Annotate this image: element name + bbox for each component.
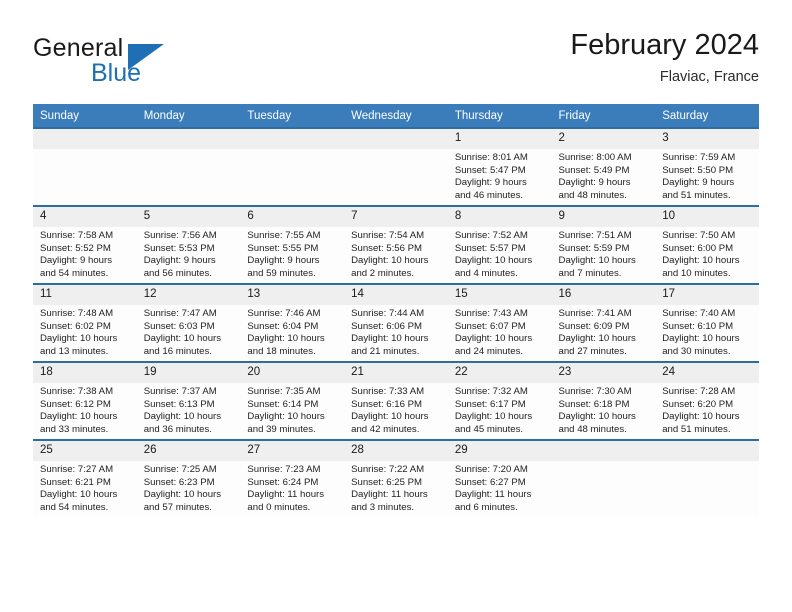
page-header: General Blue February 2024 Flaviac, Fran… (33, 28, 759, 98)
day-number: 20 (240, 363, 344, 383)
day-details: Sunrise: 7:54 AMSunset: 5:56 PMDaylight:… (344, 227, 448, 280)
day-details: Sunrise: 7:37 AMSunset: 6:13 PMDaylight:… (137, 383, 241, 436)
day-details: Sunrise: 7:27 AMSunset: 6:21 PMDaylight:… (33, 461, 137, 514)
calendar-day-cell[interactable]: 11Sunrise: 7:48 AMSunset: 6:02 PMDayligh… (33, 284, 137, 362)
sunset-text: Sunset: 5:53 PM (144, 243, 235, 256)
page-title: February 2024 (570, 28, 759, 62)
weekday-header-saturday: Saturday (655, 104, 759, 128)
calendar-day-cell[interactable]: 7Sunrise: 7:54 AMSunset: 5:56 PMDaylight… (344, 206, 448, 284)
daylight-text-line1: Daylight: 10 hours (662, 411, 753, 424)
sunrise-text: Sunrise: 7:28 AM (662, 386, 753, 399)
day-number: 4 (33, 207, 137, 227)
daylight-text-line2: and 46 minutes. (455, 190, 546, 203)
calendar-day-cell[interactable]: 18Sunrise: 7:38 AMSunset: 6:12 PMDayligh… (33, 362, 137, 440)
day-details: Sunrise: 7:44 AMSunset: 6:06 PMDaylight:… (344, 305, 448, 358)
calendar-day-cell[interactable]: 25Sunrise: 7:27 AMSunset: 6:21 PMDayligh… (33, 440, 137, 517)
daylight-text-line2: and 3 minutes. (351, 502, 442, 515)
daylight-text-line1: Daylight: 9 hours (662, 177, 753, 190)
calendar-week-row: 18Sunrise: 7:38 AMSunset: 6:12 PMDayligh… (33, 362, 759, 440)
day-details: Sunrise: 7:23 AMSunset: 6:24 PMDaylight:… (240, 461, 344, 514)
daylight-text-line1: Daylight: 10 hours (455, 255, 546, 268)
daylight-text-line2: and 48 minutes. (559, 190, 650, 203)
sunrise-text: Sunrise: 7:40 AM (662, 308, 753, 321)
day-number: 12 (137, 285, 241, 305)
day-details: Sunrise: 7:46 AMSunset: 6:04 PMDaylight:… (240, 305, 344, 358)
sunset-text: Sunset: 5:50 PM (662, 165, 753, 178)
sunrise-text: Sunrise: 7:52 AM (455, 230, 546, 243)
day-number (552, 441, 656, 461)
daylight-text-line2: and 45 minutes. (455, 424, 546, 437)
day-number: 11 (33, 285, 137, 305)
day-details: Sunrise: 7:58 AMSunset: 5:52 PMDaylight:… (33, 227, 137, 280)
day-number (655, 441, 759, 461)
daylight-text-line1: Daylight: 9 hours (455, 177, 546, 190)
daylight-text-line1: Daylight: 10 hours (559, 411, 650, 424)
weekday-header-friday: Friday (552, 104, 656, 128)
sunrise-text: Sunrise: 7:25 AM (144, 464, 235, 477)
day-details: Sunrise: 7:43 AMSunset: 6:07 PMDaylight:… (448, 305, 552, 358)
calendar-week-row: 1Sunrise: 8:01 AMSunset: 5:47 PMDaylight… (33, 128, 759, 206)
daylight-text-line2: and 16 minutes. (144, 346, 235, 359)
day-number: 2 (552, 129, 656, 149)
day-number: 26 (137, 441, 241, 461)
sunset-text: Sunset: 6:09 PM (559, 321, 650, 334)
title-block: February 2024 Flaviac, France (570, 28, 759, 86)
daylight-text-line1: Daylight: 10 hours (40, 333, 131, 346)
daylight-text-line1: Daylight: 10 hours (559, 333, 650, 346)
sunset-text: Sunset: 6:03 PM (144, 321, 235, 334)
day-details: Sunrise: 7:38 AMSunset: 6:12 PMDaylight:… (33, 383, 137, 436)
sunrise-text: Sunrise: 7:54 AM (351, 230, 442, 243)
day-number: 23 (552, 363, 656, 383)
daylight-text-line2: and 2 minutes. (351, 268, 442, 281)
sunrise-text: Sunrise: 7:23 AM (247, 464, 338, 477)
sunset-text: Sunset: 6:00 PM (662, 243, 753, 256)
calendar-day-cell-empty (552, 440, 656, 517)
daylight-text-line2: and 0 minutes. (247, 502, 338, 515)
calendar-day-cell[interactable]: 14Sunrise: 7:44 AMSunset: 6:06 PMDayligh… (344, 284, 448, 362)
daylight-text-line1: Daylight: 10 hours (559, 255, 650, 268)
sunset-text: Sunset: 6:23 PM (144, 477, 235, 490)
sunset-text: Sunset: 6:14 PM (247, 399, 338, 412)
day-details: Sunrise: 7:40 AMSunset: 6:10 PMDaylight:… (655, 305, 759, 358)
calendar-day-cell[interactable]: 19Sunrise: 7:37 AMSunset: 6:13 PMDayligh… (137, 362, 241, 440)
day-number: 13 (240, 285, 344, 305)
daylight-text-line1: Daylight: 9 hours (144, 255, 235, 268)
daylight-text-line2: and 30 minutes. (662, 346, 753, 359)
day-number: 19 (137, 363, 241, 383)
sunset-text: Sunset: 5:59 PM (559, 243, 650, 256)
daylight-text-line2: and 4 minutes. (455, 268, 546, 281)
daylight-text-line1: Daylight: 10 hours (662, 255, 753, 268)
daylight-text-line1: Daylight: 10 hours (662, 333, 753, 346)
daylight-text-line1: Daylight: 11 hours (247, 489, 338, 502)
daylight-text-line1: Daylight: 10 hours (144, 489, 235, 502)
sunrise-text: Sunrise: 7:38 AM (40, 386, 131, 399)
daylight-text-line2: and 6 minutes. (455, 502, 546, 515)
sunset-text: Sunset: 6:02 PM (40, 321, 131, 334)
calendar-day-cell[interactable]: 24Sunrise: 7:28 AMSunset: 6:20 PMDayligh… (655, 362, 759, 440)
calendar-day-cell[interactable]: 13Sunrise: 7:46 AMSunset: 6:04 PMDayligh… (240, 284, 344, 362)
daylight-text-line2: and 54 minutes. (40, 502, 131, 515)
day-number: 21 (344, 363, 448, 383)
sunset-text: Sunset: 5:47 PM (455, 165, 546, 178)
calendar-day-cell[interactable]: 12Sunrise: 7:47 AMSunset: 6:03 PMDayligh… (137, 284, 241, 362)
daylight-text-line1: Daylight: 10 hours (351, 333, 442, 346)
day-details: Sunrise: 7:50 AMSunset: 6:00 PMDaylight:… (655, 227, 759, 280)
day-number (33, 129, 137, 149)
daylight-text-line1: Daylight: 10 hours (40, 489, 131, 502)
sunrise-text: Sunrise: 7:55 AM (247, 230, 338, 243)
sunrise-text: Sunrise: 7:27 AM (40, 464, 131, 477)
sunrise-text: Sunrise: 7:35 AM (247, 386, 338, 399)
sunrise-text: Sunrise: 7:46 AM (247, 308, 338, 321)
calendar-day-cell[interactable]: 1Sunrise: 8:01 AMSunset: 5:47 PMDaylight… (448, 128, 552, 206)
calendar-header-row: Sunday Monday Tuesday Wednesday Thursday… (33, 104, 759, 128)
calendar-day-cell-empty (655, 440, 759, 517)
daylight-text-line1: Daylight: 10 hours (40, 411, 131, 424)
day-number: 17 (655, 285, 759, 305)
daylight-text-line2: and 10 minutes. (662, 268, 753, 281)
weekday-header-tuesday: Tuesday (240, 104, 344, 128)
day-details: Sunrise: 7:25 AMSunset: 6:23 PMDaylight:… (137, 461, 241, 514)
calendar-day-cell[interactable]: 10Sunrise: 7:50 AMSunset: 6:00 PMDayligh… (655, 206, 759, 284)
calendar-day-cell[interactable]: 28Sunrise: 7:22 AMSunset: 6:25 PMDayligh… (344, 440, 448, 517)
calendar-body: 1Sunrise: 8:01 AMSunset: 5:47 PMDaylight… (33, 128, 759, 517)
sunset-text: Sunset: 6:10 PM (662, 321, 753, 334)
sunset-text: Sunset: 6:12 PM (40, 399, 131, 412)
day-details: Sunrise: 7:32 AMSunset: 6:17 PMDaylight:… (448, 383, 552, 436)
day-number: 14 (344, 285, 448, 305)
sunrise-text: Sunrise: 7:41 AM (559, 308, 650, 321)
day-details: Sunrise: 7:52 AMSunset: 5:57 PMDaylight:… (448, 227, 552, 280)
calendar-week-row: 25Sunrise: 7:27 AMSunset: 6:21 PMDayligh… (33, 440, 759, 517)
day-details: Sunrise: 7:35 AMSunset: 6:14 PMDaylight:… (240, 383, 344, 436)
calendar-day-cell[interactable]: 9Sunrise: 7:51 AMSunset: 5:59 PMDaylight… (552, 206, 656, 284)
day-details: Sunrise: 7:59 AMSunset: 5:50 PMDaylight:… (655, 149, 759, 202)
calendar-week-row: 11Sunrise: 7:48 AMSunset: 6:02 PMDayligh… (33, 284, 759, 362)
sunset-text: Sunset: 6:06 PM (351, 321, 442, 334)
daylight-text-line2: and 39 minutes. (247, 424, 338, 437)
daylight-text-line1: Daylight: 9 hours (40, 255, 131, 268)
sunset-text: Sunset: 6:21 PM (40, 477, 131, 490)
calendar-day-cell[interactable]: 27Sunrise: 7:23 AMSunset: 6:24 PMDayligh… (240, 440, 344, 517)
day-details: Sunrise: 7:47 AMSunset: 6:03 PMDaylight:… (137, 305, 241, 358)
day-number: 1 (448, 129, 552, 149)
daylight-text-line2: and 27 minutes. (559, 346, 650, 359)
daylight-text-line1: Daylight: 10 hours (247, 411, 338, 424)
sunrise-text: Sunrise: 7:50 AM (662, 230, 753, 243)
sunset-text: Sunset: 5:57 PM (455, 243, 546, 256)
sunrise-text: Sunrise: 8:00 AM (559, 152, 650, 165)
sunrise-text: Sunrise: 7:59 AM (662, 152, 753, 165)
daylight-text-line1: Daylight: 10 hours (351, 411, 442, 424)
day-details: Sunrise: 7:20 AMSunset: 6:27 PMDaylight:… (448, 461, 552, 514)
day-details: Sunrise: 7:56 AMSunset: 5:53 PMDaylight:… (137, 227, 241, 280)
location-subtitle: Flaviac, France (570, 68, 759, 86)
sunset-text: Sunset: 6:27 PM (455, 477, 546, 490)
sunset-text: Sunset: 5:56 PM (351, 243, 442, 256)
daylight-text-line2: and 56 minutes. (144, 268, 235, 281)
calendar-day-cell[interactable]: 22Sunrise: 7:32 AMSunset: 6:17 PMDayligh… (448, 362, 552, 440)
day-details: Sunrise: 7:41 AMSunset: 6:09 PMDaylight:… (552, 305, 656, 358)
daylight-text-line2: and 42 minutes. (351, 424, 442, 437)
calendar-day-cell[interactable]: 16Sunrise: 7:41 AMSunset: 6:09 PMDayligh… (552, 284, 656, 362)
day-number: 16 (552, 285, 656, 305)
calendar-day-cell[interactable]: 6Sunrise: 7:55 AMSunset: 5:55 PMDaylight… (240, 206, 344, 284)
sunset-text: Sunset: 6:20 PM (662, 399, 753, 412)
day-details: Sunrise: 8:01 AMSunset: 5:47 PMDaylight:… (448, 149, 552, 202)
day-details: Sunrise: 7:33 AMSunset: 6:16 PMDaylight:… (344, 383, 448, 436)
calendar-day-cell[interactable]: 21Sunrise: 7:33 AMSunset: 6:16 PMDayligh… (344, 362, 448, 440)
daylight-text-line2: and 18 minutes. (247, 346, 338, 359)
daylight-text-line2: and 7 minutes. (559, 268, 650, 281)
daylight-text-line2: and 51 minutes. (662, 190, 753, 203)
calendar-table: Sunday Monday Tuesday Wednesday Thursday… (33, 104, 759, 517)
daylight-text-line1: Daylight: 10 hours (455, 411, 546, 424)
sunrise-text: Sunrise: 7:22 AM (351, 464, 442, 477)
sunrise-text: Sunrise: 7:48 AM (40, 308, 131, 321)
calendar-day-cell[interactable]: 5Sunrise: 7:56 AMSunset: 5:53 PMDaylight… (137, 206, 241, 284)
sunset-text: Sunset: 5:55 PM (247, 243, 338, 256)
sunset-text: Sunset: 6:18 PM (559, 399, 650, 412)
sunset-text: Sunset: 5:49 PM (559, 165, 650, 178)
sunset-text: Sunset: 6:04 PM (247, 321, 338, 334)
sunrise-text: Sunrise: 7:33 AM (351, 386, 442, 399)
day-number (137, 129, 241, 149)
daylight-text-line1: Daylight: 10 hours (144, 411, 235, 424)
sunrise-text: Sunrise: 7:44 AM (351, 308, 442, 321)
day-number (240, 129, 344, 149)
daylight-text-line2: and 59 minutes. (247, 268, 338, 281)
daylight-text-line2: and 24 minutes. (455, 346, 546, 359)
day-number: 5 (137, 207, 241, 227)
calendar-page: General Blue February 2024 Flaviac, Fran… (0, 0, 792, 612)
daylight-text-line2: and 54 minutes. (40, 268, 131, 281)
daylight-text-line2: and 51 minutes. (662, 424, 753, 437)
sunrise-text: Sunrise: 8:01 AM (455, 152, 546, 165)
calendar-day-cell-empty (344, 128, 448, 206)
calendar-day-cell[interactable]: 2Sunrise: 8:00 AMSunset: 5:49 PMDaylight… (552, 128, 656, 206)
calendar-day-cell[interactable]: 26Sunrise: 7:25 AMSunset: 6:23 PMDayligh… (137, 440, 241, 517)
day-details: Sunrise: 8:00 AMSunset: 5:49 PMDaylight:… (552, 149, 656, 202)
day-number: 29 (448, 441, 552, 461)
calendar-day-cell[interactable]: 4Sunrise: 7:58 AMSunset: 5:52 PMDaylight… (33, 206, 137, 284)
weekday-header-thursday: Thursday (448, 104, 552, 128)
day-details: Sunrise: 7:28 AMSunset: 6:20 PMDaylight:… (655, 383, 759, 436)
sunrise-text: Sunrise: 7:30 AM (559, 386, 650, 399)
day-number: 27 (240, 441, 344, 461)
sunset-text: Sunset: 5:52 PM (40, 243, 131, 256)
day-number: 25 (33, 441, 137, 461)
calendar-day-cell-empty (137, 128, 241, 206)
sunrise-text: Sunrise: 7:47 AM (144, 308, 235, 321)
calendar-day-cell[interactable]: 8Sunrise: 7:52 AMSunset: 5:57 PMDaylight… (448, 206, 552, 284)
calendar-day-cell[interactable]: 17Sunrise: 7:40 AMSunset: 6:10 PMDayligh… (655, 284, 759, 362)
day-number: 22 (448, 363, 552, 383)
daylight-text-line1: Daylight: 9 hours (559, 177, 650, 190)
sunset-text: Sunset: 6:17 PM (455, 399, 546, 412)
calendar-day-cell[interactable]: 29Sunrise: 7:20 AMSunset: 6:27 PMDayligh… (448, 440, 552, 517)
day-details: Sunrise: 7:30 AMSunset: 6:18 PMDaylight:… (552, 383, 656, 436)
sunset-text: Sunset: 6:24 PM (247, 477, 338, 490)
sunrise-text: Sunrise: 7:51 AM (559, 230, 650, 243)
calendar-day-cell[interactable]: 15Sunrise: 7:43 AMSunset: 6:07 PMDayligh… (448, 284, 552, 362)
day-number: 6 (240, 207, 344, 227)
daylight-text-line2: and 21 minutes. (351, 346, 442, 359)
daylight-text-line2: and 48 minutes. (559, 424, 650, 437)
day-details: Sunrise: 7:48 AMSunset: 6:02 PMDaylight:… (33, 305, 137, 358)
daylight-text-line2: and 33 minutes. (40, 424, 131, 437)
daylight-text-line1: Daylight: 9 hours (247, 255, 338, 268)
day-number: 7 (344, 207, 448, 227)
daylight-text-line2: and 36 minutes. (144, 424, 235, 437)
daylight-text-line1: Daylight: 10 hours (247, 333, 338, 346)
sunrise-text: Sunrise: 7:43 AM (455, 308, 546, 321)
sunrise-text: Sunrise: 7:37 AM (144, 386, 235, 399)
calendar-day-cell[interactable]: 20Sunrise: 7:35 AMSunset: 6:14 PMDayligh… (240, 362, 344, 440)
sunrise-text: Sunrise: 7:32 AM (455, 386, 546, 399)
calendar-day-cell[interactable]: 3Sunrise: 7:59 AMSunset: 5:50 PMDaylight… (655, 128, 759, 206)
sunrise-text: Sunrise: 7:56 AM (144, 230, 235, 243)
calendar-day-cell-empty (33, 128, 137, 206)
day-details: Sunrise: 7:22 AMSunset: 6:25 PMDaylight:… (344, 461, 448, 514)
daylight-text-line1: Daylight: 10 hours (144, 333, 235, 346)
daylight-text-line1: Daylight: 11 hours (455, 489, 546, 502)
day-number: 8 (448, 207, 552, 227)
sunset-text: Sunset: 6:16 PM (351, 399, 442, 412)
sunrise-text: Sunrise: 7:58 AM (40, 230, 131, 243)
day-number (344, 129, 448, 149)
daylight-text-line2: and 57 minutes. (144, 502, 235, 515)
calendar-day-cell[interactable]: 23Sunrise: 7:30 AMSunset: 6:18 PMDayligh… (552, 362, 656, 440)
logo-text-blue: Blue (91, 59, 141, 88)
day-details: Sunrise: 7:51 AMSunset: 5:59 PMDaylight:… (552, 227, 656, 280)
day-number: 15 (448, 285, 552, 305)
day-details: Sunrise: 7:55 AMSunset: 5:55 PMDaylight:… (240, 227, 344, 280)
day-number: 18 (33, 363, 137, 383)
sunrise-text: Sunrise: 7:20 AM (455, 464, 546, 477)
general-blue-logo[interactable]: General Blue (33, 34, 243, 92)
sunset-text: Sunset: 6:13 PM (144, 399, 235, 412)
daylight-text-line1: Daylight: 10 hours (351, 255, 442, 268)
daylight-text-line1: Daylight: 11 hours (351, 489, 442, 502)
sunset-text: Sunset: 6:25 PM (351, 477, 442, 490)
weekday-header-wednesday: Wednesday (344, 104, 448, 128)
day-number: 9 (552, 207, 656, 227)
day-number: 28 (344, 441, 448, 461)
calendar-day-cell-empty (240, 128, 344, 206)
weekday-header-monday: Monday (137, 104, 241, 128)
sunset-text: Sunset: 6:07 PM (455, 321, 546, 334)
calendar-week-row: 4Sunrise: 7:58 AMSunset: 5:52 PMDaylight… (33, 206, 759, 284)
day-number: 3 (655, 129, 759, 149)
day-number: 24 (655, 363, 759, 383)
weekday-header-sunday: Sunday (33, 104, 137, 128)
day-number: 10 (655, 207, 759, 227)
daylight-text-line1: Daylight: 10 hours (455, 333, 546, 346)
daylight-text-line2: and 13 minutes. (40, 346, 131, 359)
